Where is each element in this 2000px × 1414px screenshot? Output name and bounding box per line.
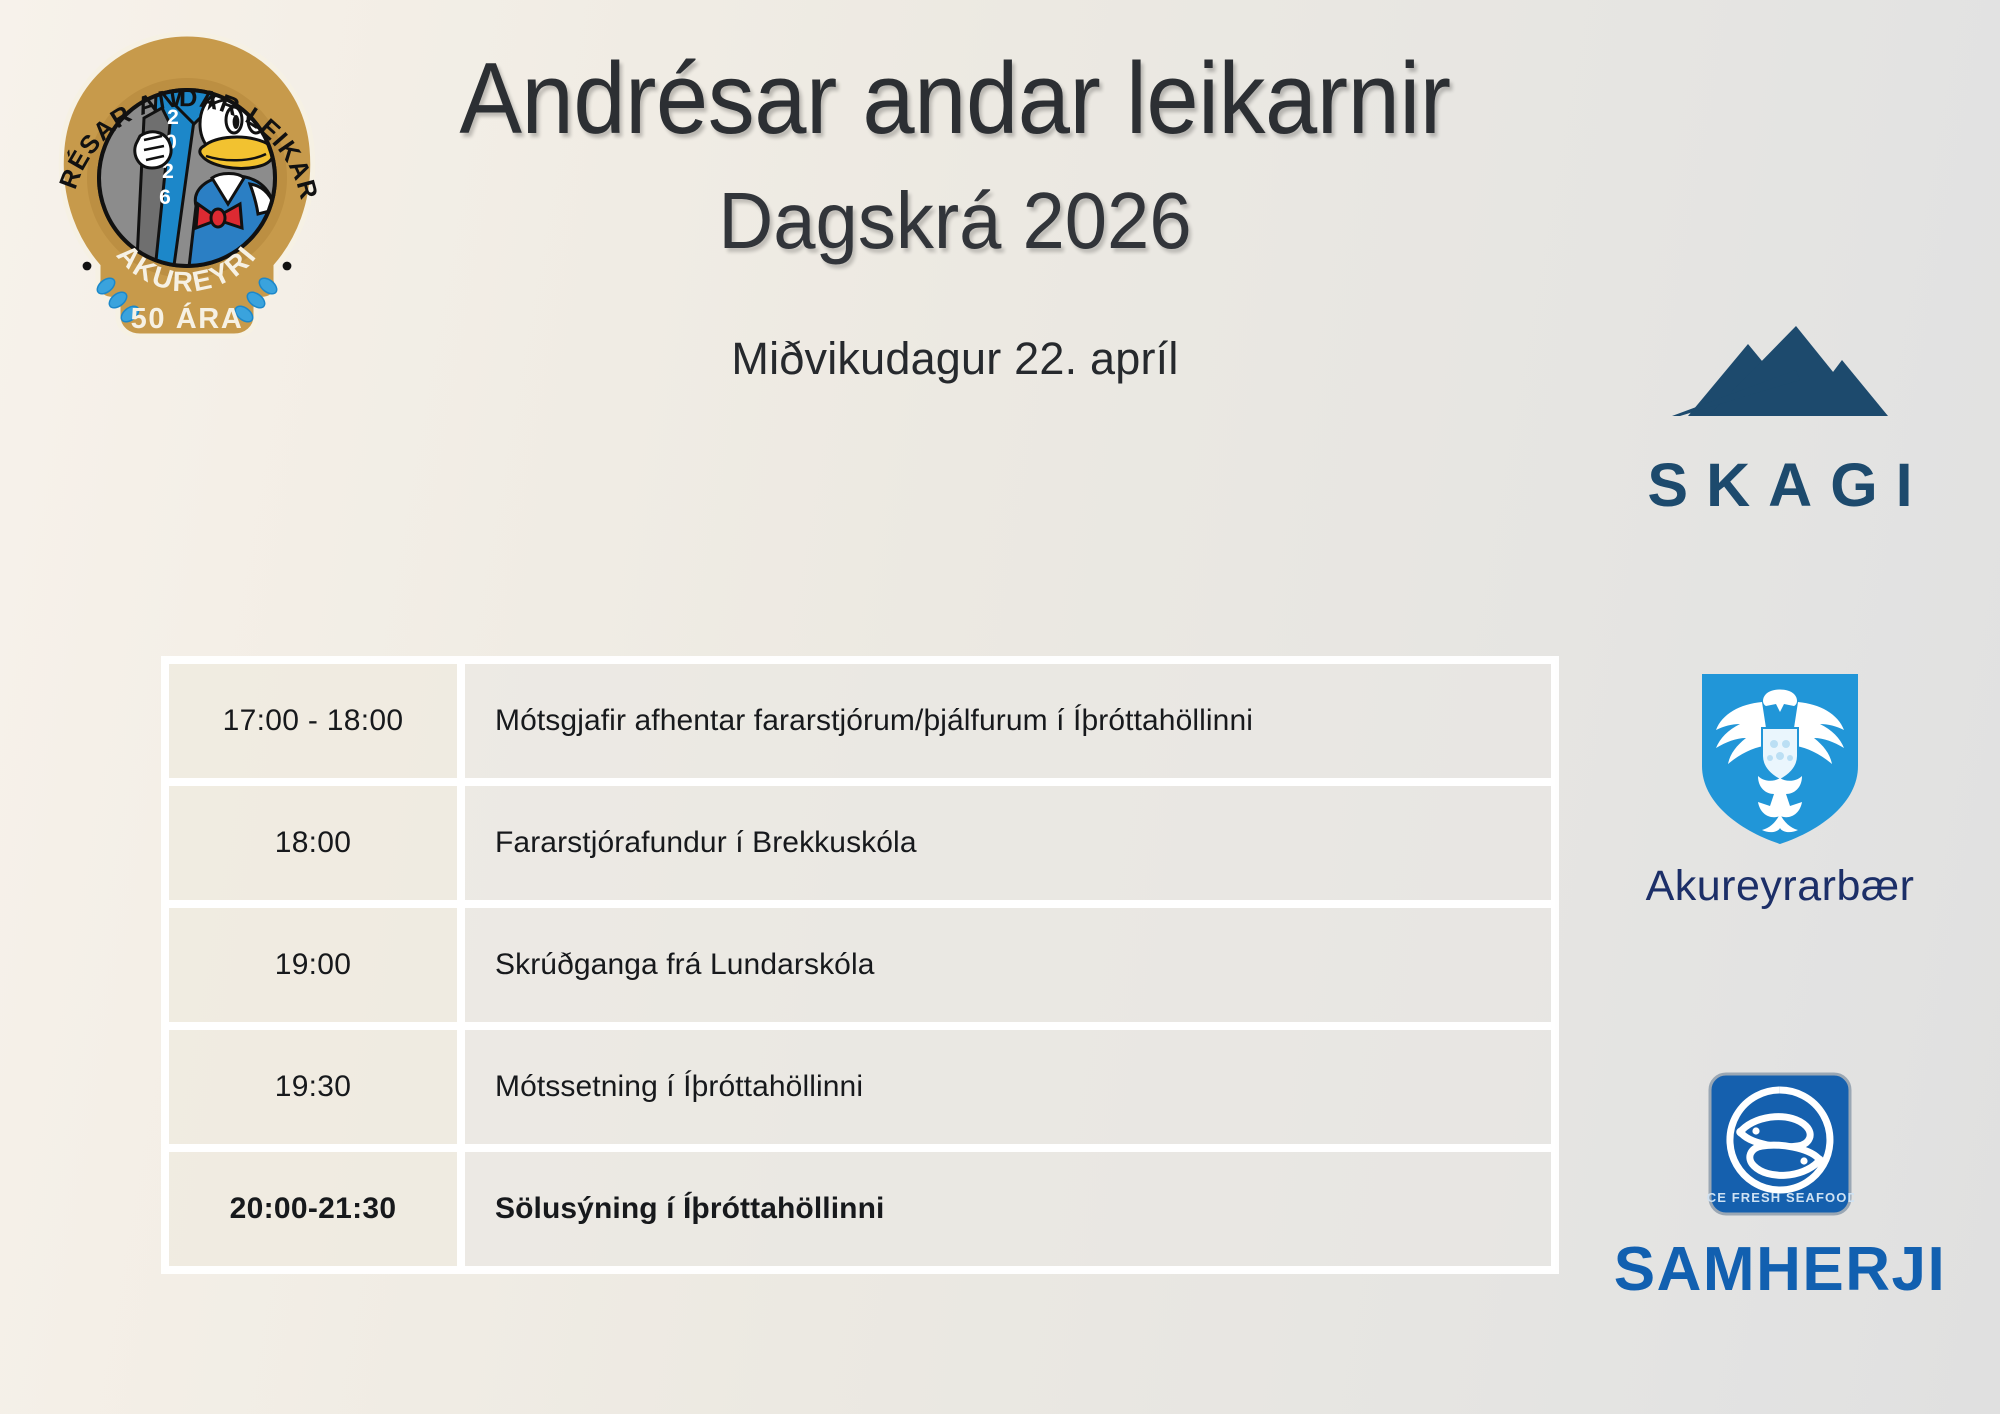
schedule-time-text: 18:00	[169, 826, 457, 860]
schedule-time-cell: 19:00	[165, 904, 461, 1026]
schedule-desc-cell: Fararstjórafundur í Brekkuskóla	[461, 782, 1555, 904]
schedule-date: Miðvikudagur 22. apríl	[340, 333, 1570, 385]
akureyrarbaer-wordmark: Akureyrarbær	[1560, 862, 2000, 911]
sponsor-logo-akureyrarbaer: Akureyrarbær	[1560, 670, 2000, 911]
samherji-wordmark: SAMHERJI	[1560, 1234, 2000, 1305]
skagi-wordmark: SKAGI	[1560, 450, 2000, 520]
sponsor-logo-skagi: SKAGI	[1560, 318, 2000, 520]
table-row: 18:00 Fararstjórafundur í Brekkuskóla	[165, 782, 1555, 904]
schedule-desc-text: Mótsgjafir afhentar fararstjórum/þjálfur…	[465, 704, 1551, 738]
schedule-desc-text: Sölusýning í Íþróttahöllinni	[465, 1192, 1551, 1226]
akureyri-shield-eagle-icon	[1696, 670, 1864, 848]
skagi-mountains-icon	[1650, 318, 1910, 428]
schedule-desc-text: Mótssetning í Íþróttahöllinni	[465, 1070, 1551, 1104]
schedule-table: 17:00 - 18:00 Mótsgjafir afhentar farars…	[165, 660, 1555, 1270]
page-title: Andrésar andar leikarnir	[383, 46, 1527, 153]
schedule-desc-text: Skrúðganga frá Lundarskóla	[465, 948, 1551, 982]
schedule-desc-text: Fararstjórafundur í Brekkuskóla	[465, 826, 1551, 860]
schedule-table-body: 17:00 - 18:00 Mótsgjafir afhentar farars…	[165, 660, 1555, 1270]
schedule-desc-cell: Mótssetning í Íþróttahöllinni	[461, 1026, 1555, 1148]
schedule-time-text: 19:30	[169, 1070, 457, 1104]
schedule-time-text: 19:00	[169, 948, 457, 982]
schedule-desc-cell: Mótsgjafir afhentar fararstjórum/þjálfur…	[461, 660, 1555, 782]
svg-text:6: 6	[159, 186, 171, 209]
header-block: Andrésar andar leikarnir Dagskrá 2026 Mi…	[340, 46, 1570, 385]
samherji-tagline: ICE FRESH SEAFOOD	[1706, 1190, 1854, 1205]
schedule-desc-cell: Skrúðganga frá Lundarskóla	[461, 904, 1555, 1026]
table-row: 17:00 - 18:00 Mótsgjafir afhentar farars…	[165, 660, 1555, 782]
poster-canvas: 2 0 2 6	[0, 0, 2000, 1414]
schedule-time-text: 20:00-21:30	[169, 1192, 457, 1226]
page-subtitle: Dagskrá 2026	[371, 177, 1540, 265]
sponsor-logo-samherji: ICE FRESH SEAFOOD SAMHERJI	[1560, 1070, 2000, 1305]
schedule-time-cell: 19:30	[165, 1026, 461, 1148]
schedule-time-cell: 20:00-21:30	[165, 1148, 461, 1270]
table-row: 19:00 Skrúðganga frá Lundarskóla	[165, 904, 1555, 1026]
crest-anniversary-text: 50 ÁRA	[131, 301, 244, 335]
schedule-time-cell: 18:00	[165, 782, 461, 904]
sponsor-rail: SKAGI	[1560, 0, 2000, 1414]
schedule-desc-cell: Sölusýning í Íþróttahöllinni	[461, 1148, 1555, 1270]
table-row: 19:30 Mótssetning í Íþróttahöllinni	[165, 1026, 1555, 1148]
andresar-andar-leikarnir-crest-icon: 2 0 2 6	[44, 28, 330, 346]
samherji-two-fish-icon: ICE FRESH SEAFOOD	[1706, 1070, 1854, 1218]
schedule-time-cell: 17:00 - 18:00	[165, 660, 461, 782]
table-row: 20:00-21:30 Sölusýning í Íþróttahöllinni	[165, 1148, 1555, 1270]
schedule-time-text: 17:00 - 18:00	[169, 704, 457, 738]
